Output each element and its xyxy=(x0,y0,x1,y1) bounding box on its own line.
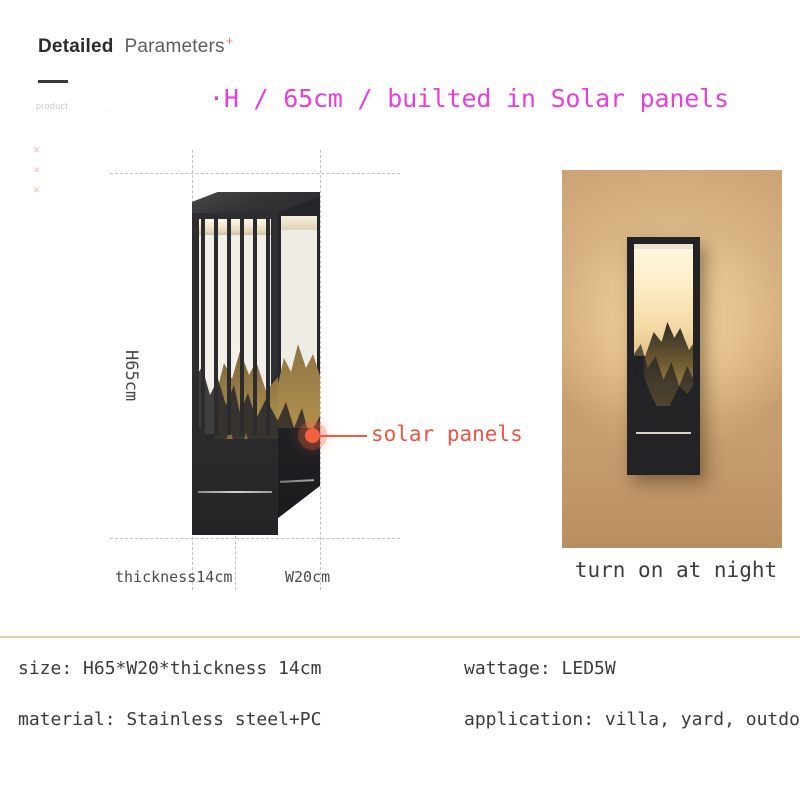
night-lamp-slit xyxy=(636,432,691,434)
spec-divider xyxy=(0,636,800,638)
x-mark-icon: ✕ xyxy=(33,160,41,180)
night-photo xyxy=(562,170,782,548)
title-bold: Detailed xyxy=(38,36,114,58)
headline-text: ·H / 65cm / builted in Solar panels xyxy=(209,84,729,113)
x-mark-list: ✕ ✕ ✕ xyxy=(33,140,41,200)
guide-line-bottom xyxy=(110,538,400,539)
night-lamp-lightbar xyxy=(634,244,693,249)
page-title: Detailed Parameters + xyxy=(38,36,233,58)
lamp-front-slit xyxy=(198,491,272,493)
guide-line-top xyxy=(110,173,400,174)
ghost-product-label: product xyxy=(36,101,68,111)
spec-wattage: wattage: LED5W xyxy=(464,658,616,679)
plus-superscript-icon: + xyxy=(226,33,234,48)
x-mark-icon: ✕ xyxy=(33,140,41,160)
lamp-front-louvers xyxy=(192,213,278,435)
product-dimension-diagram: H65cm thickness14cm W20cm xyxy=(110,150,400,590)
product-illustration xyxy=(192,183,320,538)
solar-panels-callout-label: solar panels xyxy=(371,422,523,446)
solar-panel-marker-icon xyxy=(305,428,320,443)
lamp-front-base xyxy=(192,439,278,535)
spec-size: size: H65*W20*thickness 14cm xyxy=(18,658,321,679)
night-lamp-body xyxy=(627,237,700,475)
lamp-side-louvers xyxy=(278,212,320,444)
x-mark-icon: ✕ xyxy=(33,180,41,200)
spec-application: application: villa, yard, outdoor xyxy=(464,709,800,730)
thickness-dimension-label: thickness14cm xyxy=(115,568,232,586)
height-dimension-label: H65cm xyxy=(121,350,141,401)
title-underline-rule xyxy=(38,80,68,83)
night-lamp-base xyxy=(634,406,693,468)
title-light: Parameters xyxy=(125,36,225,58)
lamp-side-face xyxy=(278,196,320,518)
lamp-front-face xyxy=(192,213,278,535)
width-dimension-label: W20cm xyxy=(285,568,330,586)
callout-leader-line xyxy=(320,435,367,437)
photo-caption: turn on at night xyxy=(566,558,786,582)
night-lamp-inner xyxy=(634,244,693,468)
ghost-dot-mark: · xyxy=(103,107,106,116)
guide-line-right xyxy=(320,150,321,590)
spec-material: material: Stainless steel+PC xyxy=(18,709,321,730)
